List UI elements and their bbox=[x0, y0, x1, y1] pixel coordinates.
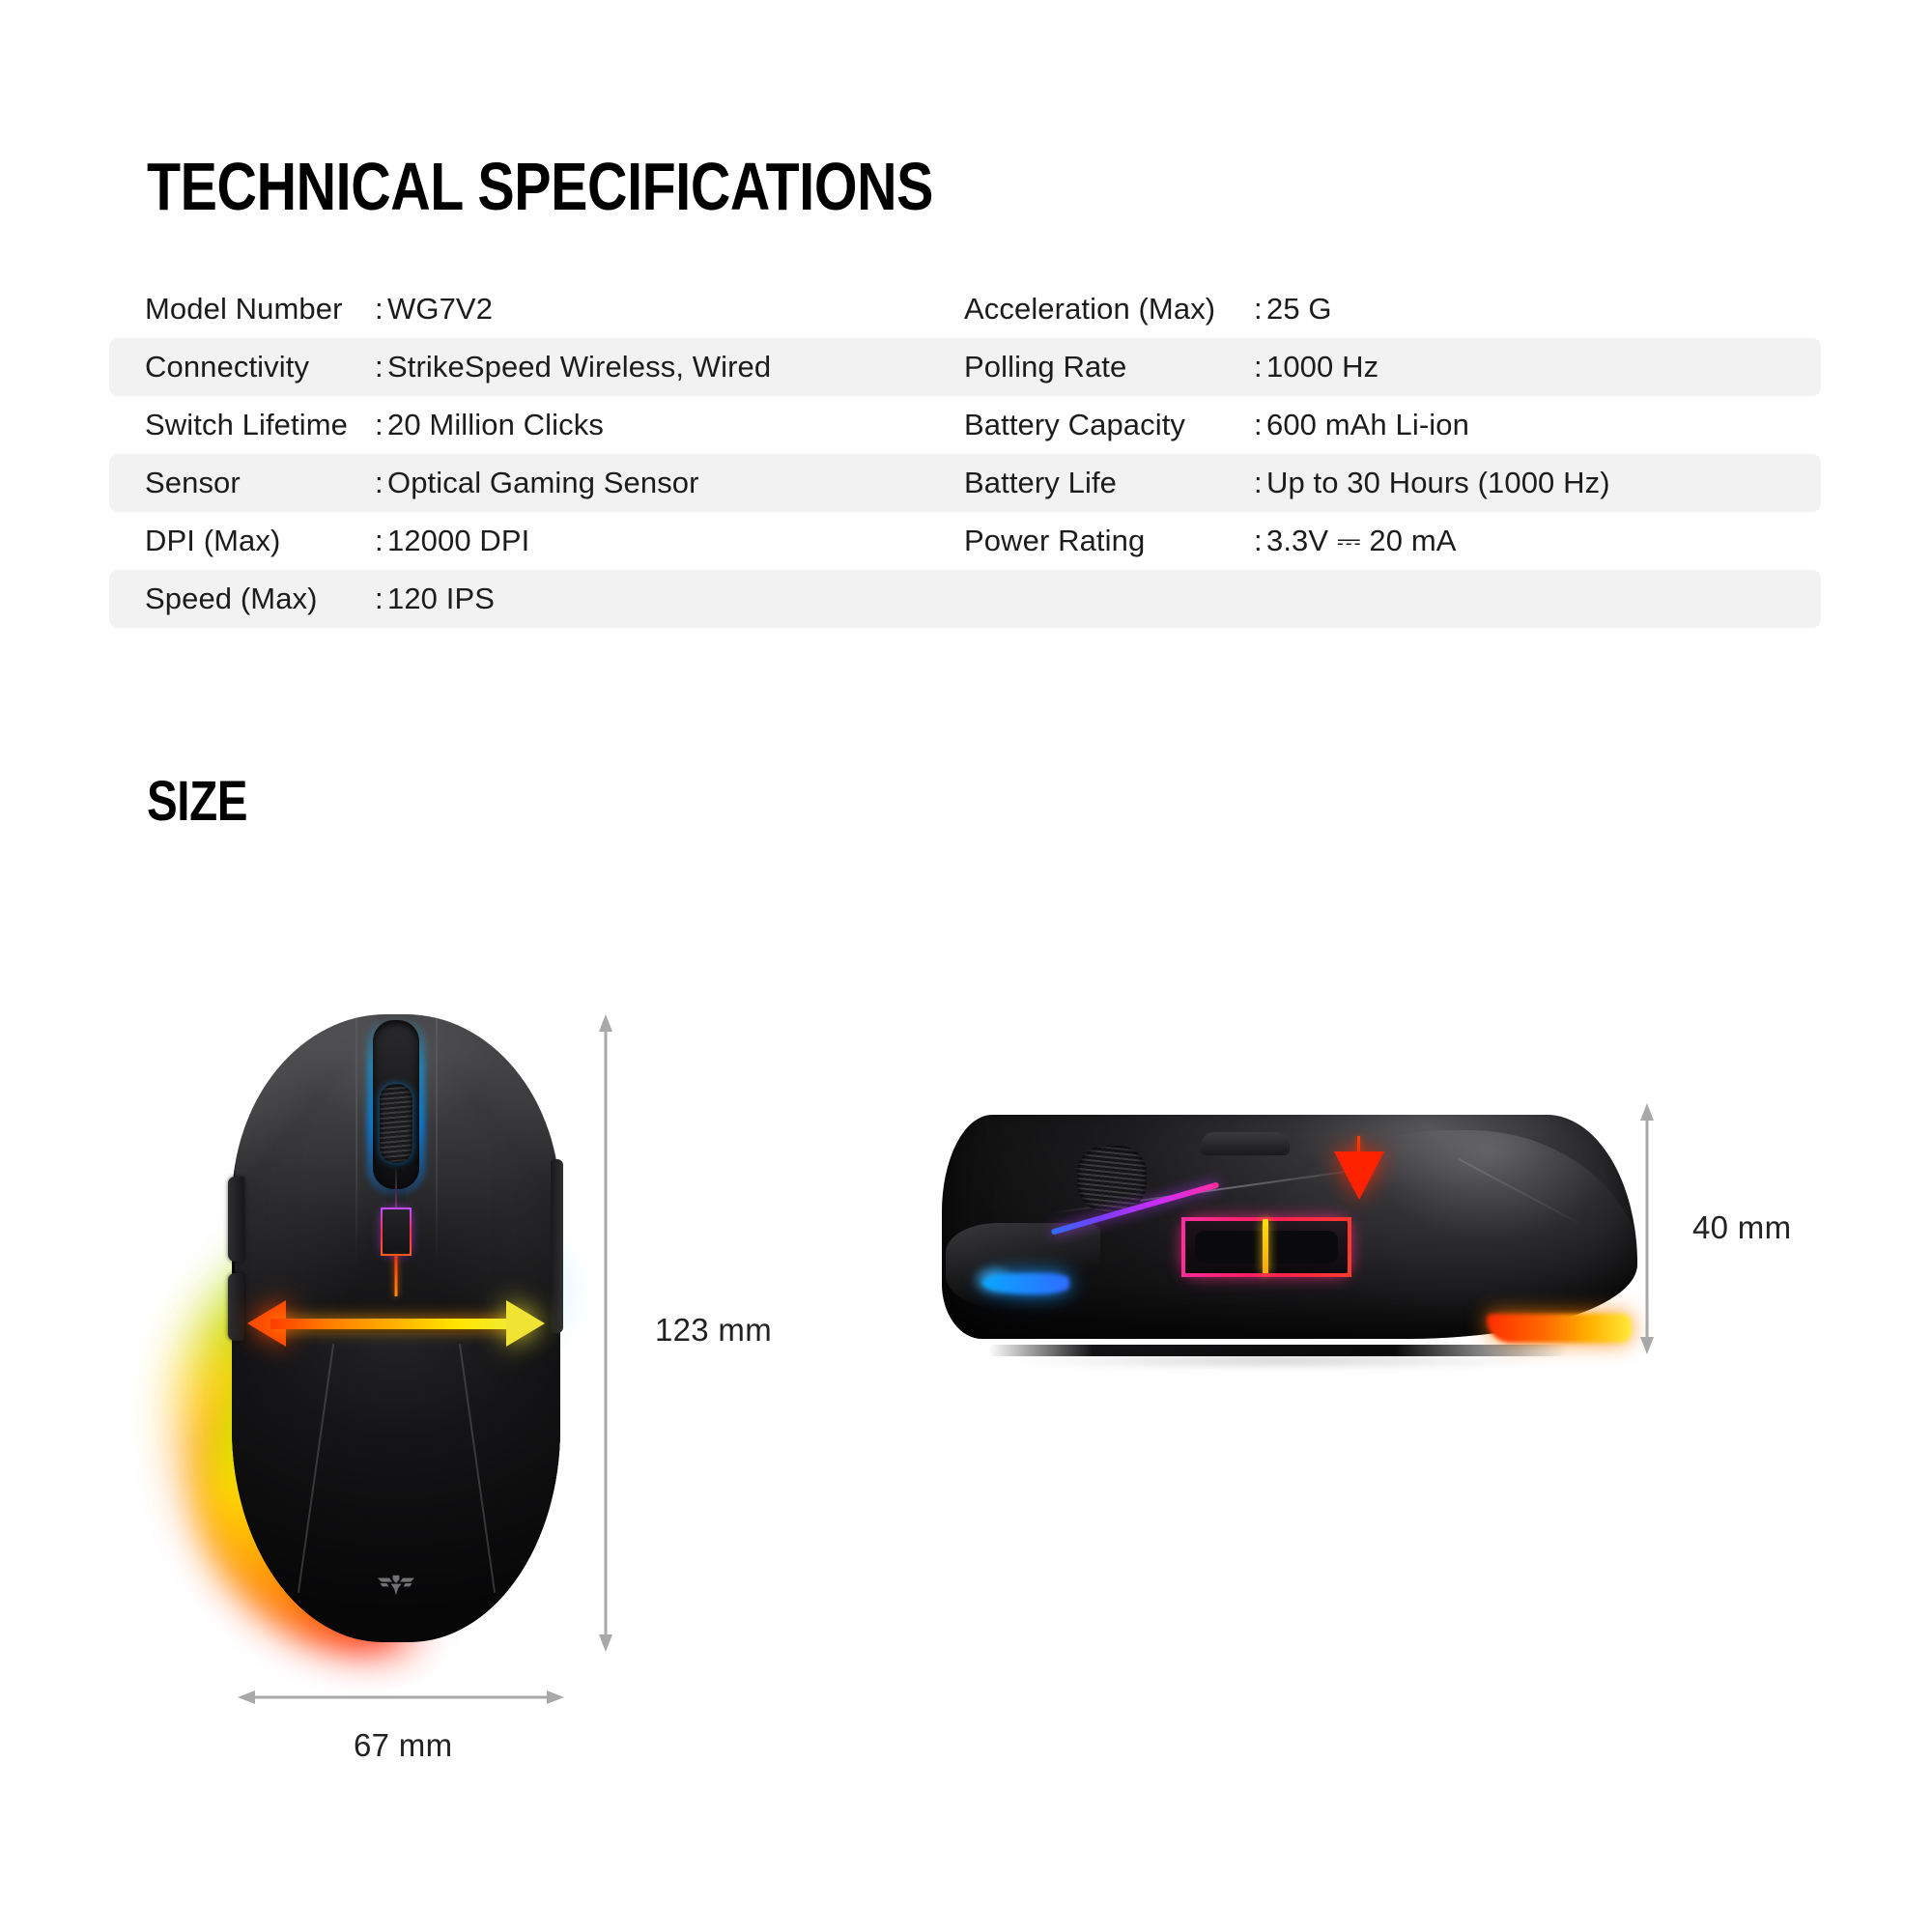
spec-value: :20 Million Clicks bbox=[375, 409, 964, 441]
spec-value-text: 12000 DPI bbox=[387, 525, 529, 557]
height-dimension-label: 123 mm bbox=[655, 1312, 772, 1349]
spec-label: Speed (Max) bbox=[109, 582, 375, 615]
dpi-stem-light bbox=[395, 1169, 397, 1211]
table-row: Speed (Max) :120 IPS bbox=[109, 570, 1821, 628]
spec-value: :3.3V ⎓ 20 mA bbox=[1254, 525, 1795, 557]
spec-label: DPI (Max) bbox=[109, 525, 375, 557]
spec-value: :600 mAh Li-ion bbox=[1254, 409, 1795, 441]
colon-separator: : bbox=[375, 409, 387, 441]
spec-value: :12000 DPI bbox=[375, 525, 964, 557]
gaming-mouse-side-view bbox=[942, 1101, 1637, 1372]
mouse-front-highlight bbox=[946, 1223, 1100, 1310]
technical-specifications-table: Model Number :WG7V2 Acceleration (Max) :… bbox=[109, 280, 1821, 628]
spec-value: :120 IPS bbox=[375, 582, 964, 615]
spec-value-text: Up to 30 Hours (1000 Hz) bbox=[1266, 467, 1610, 499]
rgb-arrow-right bbox=[506, 1300, 545, 1347]
table-row: Sensor :Optical Gaming Sensor Battery Li… bbox=[109, 454, 1821, 512]
table-row: Connectivity :StrikeSpeed Wireless, Wire… bbox=[109, 338, 1821, 396]
side-height-dimension-label: 40 mm bbox=[1692, 1209, 1791, 1246]
spec-label: Polling Rate bbox=[964, 351, 1254, 384]
spec-label: Model Number bbox=[109, 293, 375, 326]
spec-label: Power Rating bbox=[964, 525, 1254, 557]
right-button-seam bbox=[436, 1014, 438, 1265]
spec-value-text: 3.3V ⎓ 20 mA bbox=[1266, 525, 1457, 557]
rgb-arrow-bar bbox=[270, 1319, 522, 1329]
side-button-forward bbox=[228, 1177, 244, 1262]
dpi-button bbox=[381, 1207, 412, 1256]
colon-separator: : bbox=[375, 525, 387, 557]
colon-separator: : bbox=[375, 467, 387, 499]
spec-label: Acceleration (Max) bbox=[964, 293, 1254, 326]
width-dimension-label: 67 mm bbox=[354, 1727, 452, 1764]
spec-value: :1000 Hz bbox=[1254, 351, 1795, 384]
rgb-arrow-strip bbox=[220, 1294, 572, 1354]
yellow-accent-light bbox=[1263, 1219, 1268, 1273]
spec-label: Switch Lifetime bbox=[109, 409, 375, 441]
colon-separator: : bbox=[1254, 525, 1266, 557]
spec-value: :StrikeSpeed Wireless, Wired bbox=[375, 351, 964, 384]
scroll-wheel-side-icon bbox=[1077, 1146, 1147, 1213]
width-dimension-arrow bbox=[238, 1683, 564, 1712]
spec-value-text: Optical Gaming Sensor bbox=[387, 467, 699, 499]
colon-separator: : bbox=[375, 351, 387, 384]
spec-value: :WG7V2 bbox=[375, 293, 964, 326]
spec-value-text: 600 mAh Li-ion bbox=[1266, 409, 1469, 441]
colon-separator: : bbox=[375, 293, 387, 326]
table-row: Model Number :WG7V2 Acceleration (Max) :… bbox=[109, 280, 1821, 338]
spec-value: :25 G bbox=[1254, 293, 1795, 326]
spec-value: :Optical Gaming Sensor bbox=[375, 467, 964, 499]
page-title: TECHNICAL SPECIFICATIONS bbox=[147, 152, 933, 221]
height-dimension-arrow bbox=[591, 1014, 620, 1652]
colon-separator: : bbox=[1254, 409, 1266, 441]
ground-shadow bbox=[1000, 1354, 1560, 1368]
colon-separator: : bbox=[1254, 351, 1266, 384]
spec-value-text: 120 IPS bbox=[387, 582, 495, 615]
dpi-tail-light bbox=[395, 1256, 398, 1296]
table-row: DPI (Max) :12000 DPI Power Rating :3.3V … bbox=[109, 512, 1821, 570]
spec-label: Connectivity bbox=[109, 351, 375, 384]
fantech-logo bbox=[376, 1573, 416, 1598]
colon-separator: : bbox=[1254, 467, 1266, 499]
rear-orange-light bbox=[1487, 1314, 1632, 1343]
colon-separator: : bbox=[375, 582, 387, 615]
size-diagram: 123 mm 67 mm 40 mm bbox=[0, 908, 1932, 1874]
red-triangle-light bbox=[1334, 1151, 1384, 1200]
spec-value-text: 1000 Hz bbox=[1266, 351, 1378, 384]
spec-label: Sensor bbox=[109, 467, 375, 499]
scroll-wheel-icon bbox=[380, 1084, 412, 1163]
spec-value-text: 25 G bbox=[1266, 293, 1332, 326]
colon-separator: : bbox=[1254, 293, 1266, 326]
size-section-title: SIZE bbox=[147, 773, 247, 831]
spec-value-text: StrikeSpeed Wireless, Wired bbox=[387, 351, 771, 384]
spec-label: Battery Life bbox=[964, 467, 1254, 499]
table-row: Switch Lifetime :20 Million Clicks Batte… bbox=[109, 396, 1821, 454]
spec-value-text: WG7V2 bbox=[387, 293, 493, 326]
spec-label: Battery Capacity bbox=[964, 409, 1254, 441]
gaming-mouse-top-view bbox=[232, 1014, 560, 1642]
side-height-dimension-arrow bbox=[1633, 1103, 1662, 1354]
top-button-cap bbox=[1201, 1132, 1290, 1155]
spec-value: :Up to 30 Hours (1000 Hz) bbox=[1254, 467, 1795, 499]
left-button-seam bbox=[355, 1014, 357, 1265]
spec-value-text: 20 Million Clicks bbox=[387, 409, 604, 441]
